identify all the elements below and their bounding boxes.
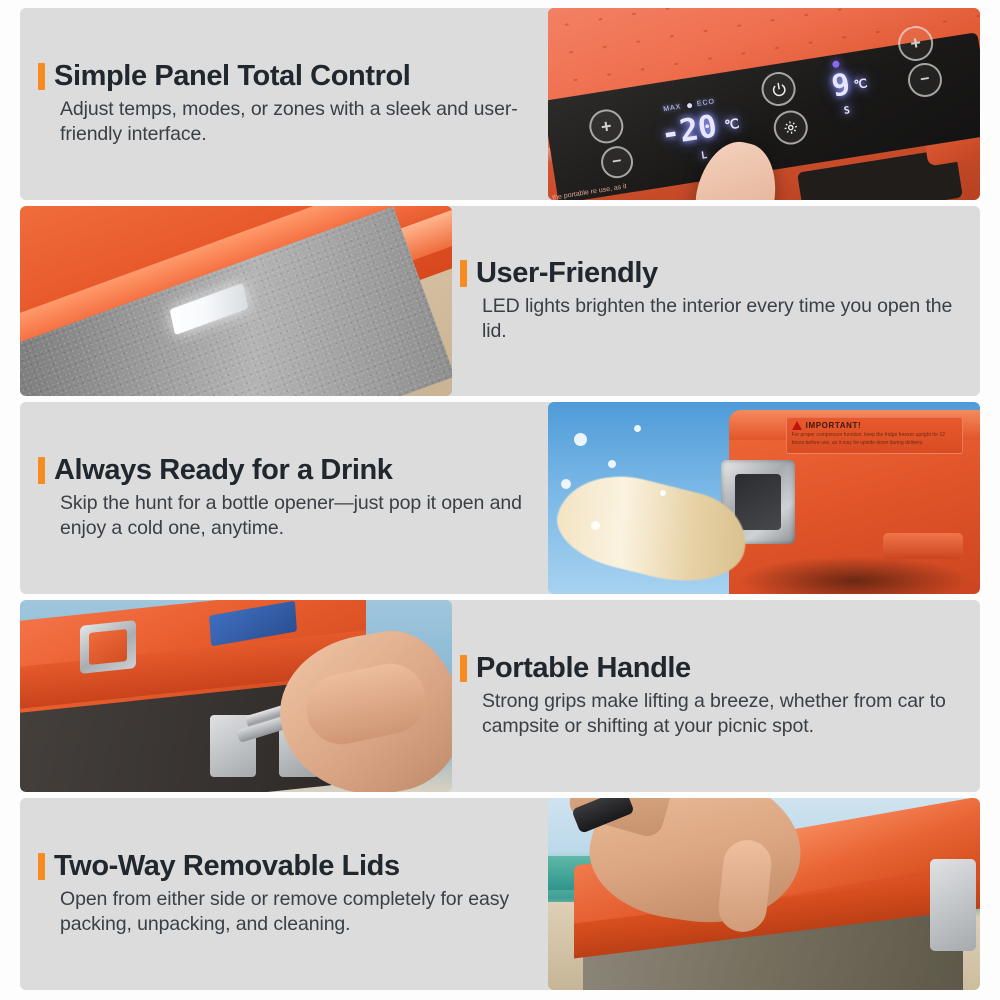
mode-indicator-dot-icon: [687, 103, 693, 109]
left-zone-temperature-display: -20: [659, 108, 720, 152]
warning-body: For proper compressor function, keep the…: [792, 432, 957, 447]
feature-heading-text: Two-Way Removable Lids: [54, 851, 400, 881]
left-zone-unit: ℃: [724, 117, 741, 134]
feature-body-text: LED lights brighten the interior every t…: [482, 294, 962, 344]
status-indicator-light: [832, 60, 840, 68]
accent-bar-icon: [460, 655, 467, 682]
feature-text-block: Two-Way Removable Lids Open from either …: [20, 798, 548, 990]
feature-body-text: Adjust temps, modes, or zones with a sle…: [60, 97, 522, 147]
power-icon: [770, 80, 787, 97]
portable-handle-scene: [20, 600, 452, 792]
power-button[interactable]: [759, 70, 798, 109]
portable-handle-photo: [20, 600, 452, 792]
feature-text-block: Portable Handle Strong grips make liftin…: [452, 600, 980, 792]
increase-temp-button[interactable]: +: [587, 107, 626, 146]
right-zone-temperature-display: 9: [829, 67, 852, 104]
bottle-opener-photo: IMPORTANT! For proper compressor functio…: [548, 402, 980, 594]
feature-body-text: Skip the hunt for a bottle opener—just p…: [60, 491, 522, 541]
feature-heading: Always Ready for a Drink: [38, 455, 522, 485]
bottle-opener-scene: IMPORTANT! For proper compressor functio…: [548, 402, 980, 594]
accent-bar-icon: [38, 853, 45, 880]
control-panel-scene: + − MAX ECO -20 ℃ L: [548, 8, 980, 200]
control-panel-photo: + − MAX ECO -20 ℃ L: [548, 8, 980, 200]
decrease-temp-button[interactable]: −: [599, 144, 636, 181]
feature-card-simple-panel-total-control: Simple Panel Total Control Adjust temps,…: [20, 8, 980, 200]
feature-card-user-friendly: User-Friendly LED lights brighten the in…: [20, 206, 980, 396]
accent-bar-icon: [38, 457, 45, 484]
feature-card-two-way-removable-lids: Two-Way Removable Lids Open from either …: [20, 798, 980, 990]
mode-indicator-max: MAX: [663, 103, 682, 113]
accent-bar-icon: [38, 63, 45, 90]
feature-heading-text: Portable Handle: [476, 653, 691, 683]
feature-card-portable-handle: Portable Handle Strong grips make liftin…: [20, 600, 980, 792]
warning-triangle-icon: [792, 421, 802, 430]
feature-text-block: User-Friendly LED lights brighten the in…: [452, 206, 980, 396]
important-warning-label: IMPORTANT! For proper compressor functio…: [786, 417, 963, 453]
right-zone-unit: ℃: [853, 76, 869, 92]
feature-heading-text: User-Friendly: [476, 258, 658, 288]
feature-heading-text: Simple Panel Total Control: [54, 61, 410, 91]
right-decrease-button[interactable]: −: [906, 61, 945, 100]
feature-heading: User-Friendly: [460, 258, 962, 288]
feature-card-always-ready-for-a-drink: Always Ready for a Drink Skip the hunt f…: [20, 402, 980, 594]
feature-heading: Two-Way Removable Lids: [38, 851, 522, 881]
feature-list-page: Simple Panel Total Control Adjust temps,…: [0, 0, 1000, 1000]
feature-heading-text: Always Ready for a Drink: [54, 455, 393, 485]
removable-lid-scene: [548, 798, 980, 990]
gear-icon: [782, 118, 800, 136]
led-light-scene: [20, 206, 452, 396]
feature-text-block: Simple Panel Total Control Adjust temps,…: [20, 8, 548, 200]
left-zone-label: L: [700, 150, 708, 162]
settings-button[interactable]: [771, 108, 810, 147]
feature-text-block: Always Ready for a Drink Skip the hunt f…: [20, 402, 548, 594]
feature-heading: Portable Handle: [460, 653, 962, 683]
warning-title: IMPORTANT!: [806, 421, 862, 430]
mode-indicator-eco: ECO: [696, 98, 715, 108]
accent-bar-icon: [460, 260, 467, 287]
led-light-photo: [20, 206, 452, 396]
feature-body-text: Strong grips make lifting a breeze, whet…: [482, 689, 962, 739]
side-metal-bracket: [930, 859, 976, 951]
feature-body-text: Open from either side or remove complete…: [60, 887, 522, 937]
feature-heading: Simple Panel Total Control: [38, 61, 522, 91]
metal-latch-plate: [80, 620, 136, 674]
removable-lid-photo: [548, 798, 980, 990]
right-zone-label: S: [843, 105, 851, 117]
